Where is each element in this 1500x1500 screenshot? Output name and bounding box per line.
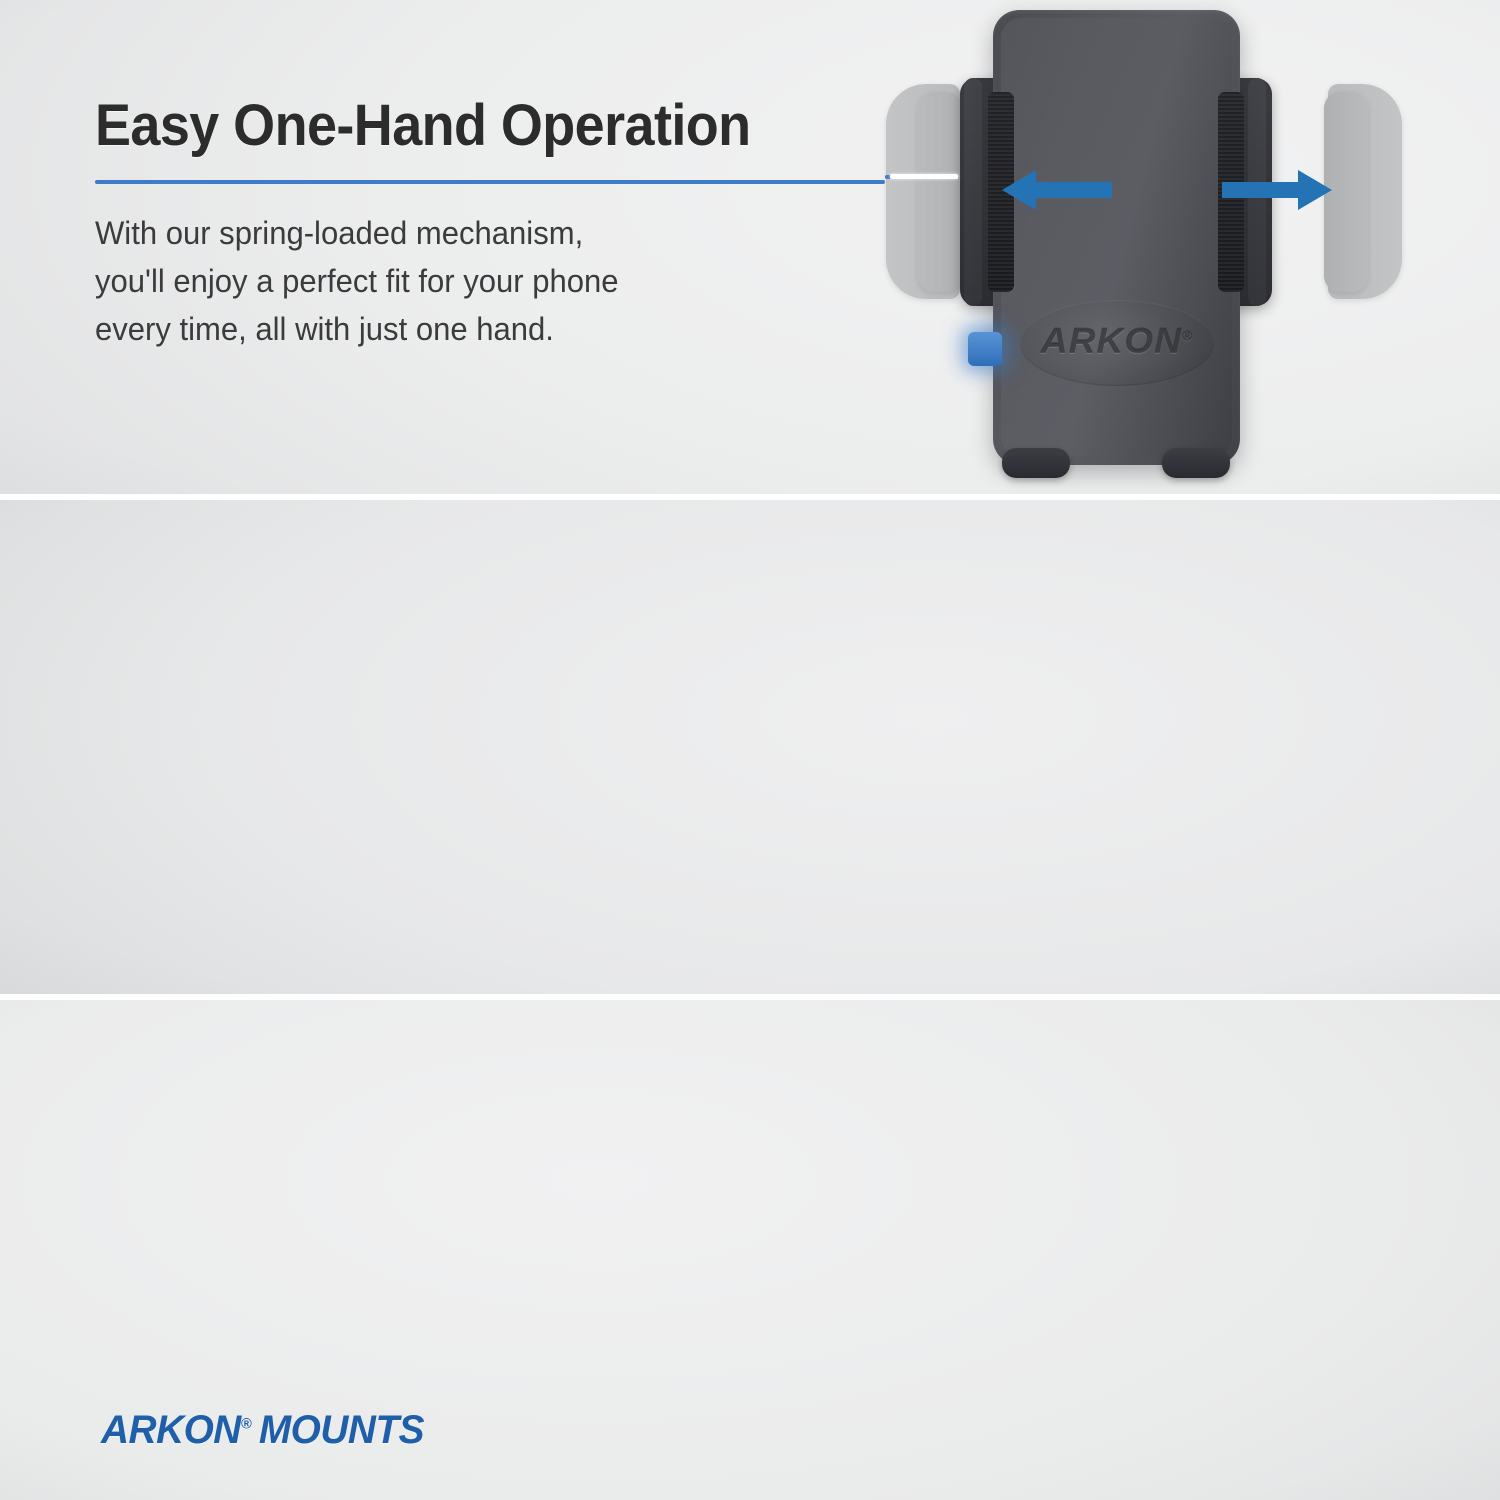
cradle-plate-face [1001,18,1232,457]
panel-easy-one-hand-operation: ARKON® Easy One-Hand Operation [0,0,1500,494]
support-foot-left [1002,448,1070,478]
ghost-arm-left-inner [918,92,962,292]
infographic-sheet: ARKON® Easy One-Hand Operation [0,0,1500,1500]
panel-vignette [0,500,1500,994]
support-foot-right [1162,448,1230,478]
release-knob [968,332,1002,366]
arkon-emblem-label: ARKON [1041,322,1182,361]
arkon-emblem-oval: ARKON® [1020,300,1214,386]
arkon-mounts-logo: ARKON®MOUNTS [101,1408,424,1453]
panel-1-body: With our spring-loaded mechanism, you'll… [95,210,849,353]
panel-padded-secure-grip: ARKON Padded Secure Grip Our specially d… [0,500,1500,994]
registered-mark-icon: ® [1182,328,1193,343]
panel-1-callout-line [890,174,958,179]
cradle-plate [993,10,1240,465]
panel-1-accent-rule [95,180,885,184]
panel-1-heading: Easy One-Hand Operation [95,96,830,155]
panel-1-rule-wrap [95,177,885,186]
brand-name-primary: ARKON [101,1408,241,1452]
arrow-right-icon [1222,168,1332,212]
registered-mark-icon: ® [241,1416,251,1433]
product-image-one-hand-operation: ARKON® [862,0,1462,494]
brand-name-secondary: MOUNTS [259,1408,424,1452]
arrow-left-icon [1002,168,1112,212]
copy-block-one-hand-operation: Easy One-Hand Operation With our spring-… [95,96,885,353]
grip-arm-left-lip [964,78,982,306]
